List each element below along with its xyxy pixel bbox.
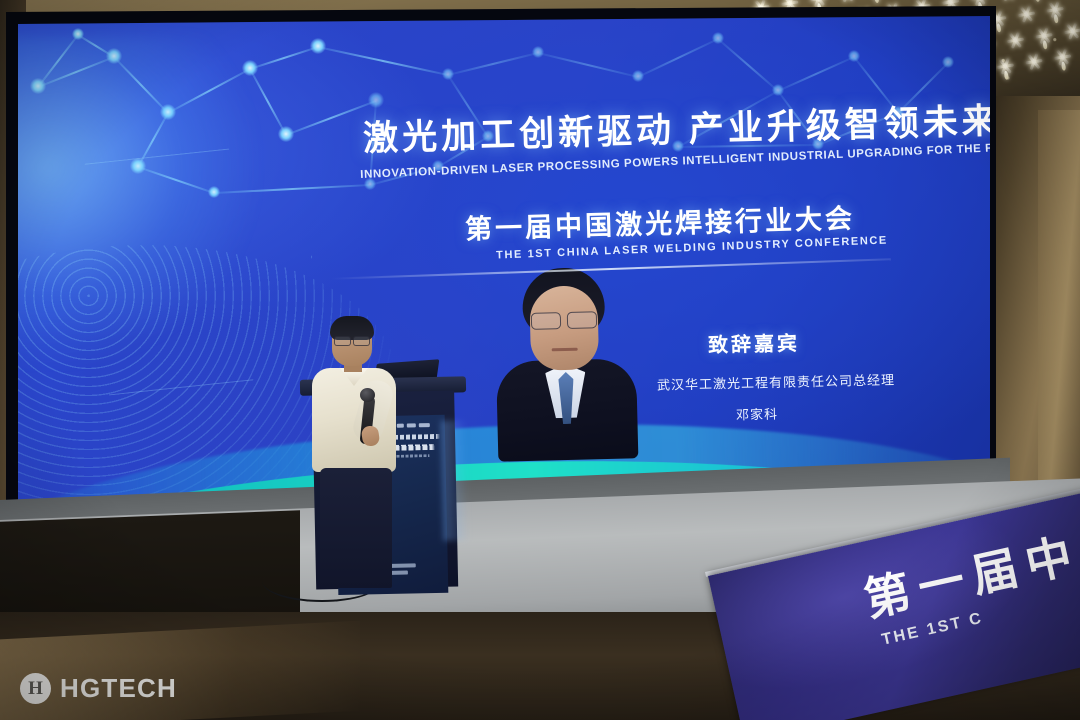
hgtech-watermark: H HGTECH (20, 673, 177, 704)
microphone-head (360, 388, 375, 402)
podium-sponsor-logo (419, 423, 430, 427)
led-screen-frame: 激光加工创新驱动 产业升级智领未来 INNOVATION-DRIVEN LASE… (6, 6, 996, 514)
speaker-glasses (334, 336, 370, 344)
hgtech-brand-text: HGTECH (60, 673, 177, 704)
ceiling-crystal-drop (1035, 0, 1040, 2)
conference-stage-photo: 激光加工创新驱动 产业升级智领未来 INNOVATION-DRIVEN LASE… (0, 0, 1080, 720)
ceiling-crystal-star (1006, 31, 1025, 50)
speaker-person (300, 318, 410, 588)
ceiling-crystal-star (1063, 22, 1080, 41)
ceiling-crystal-star (1017, 5, 1036, 24)
ceiling-crystal-star (1024, 52, 1043, 71)
hgtech-logo-icon: H (20, 673, 51, 704)
speaker-organization: 武汉华工激光工程有限责任公司总经理 (657, 369, 895, 393)
speaker-trousers (320, 468, 392, 588)
speaker-name: 邓家科 (736, 404, 778, 424)
screen-divider-line (331, 258, 891, 279)
podium-edge-glow (441, 420, 470, 541)
speaker-label: 致辞嘉宾 (708, 327, 801, 358)
ceiling-crystal-star (837, 0, 856, 4)
hgtech-logo-letter: H (28, 679, 43, 698)
ceiling-crystal-star (998, 0, 1017, 3)
screen-text-block: 激光加工创新驱动 产业升级智领未来 INNOVATION-DRIVEN LASE… (18, 16, 990, 508)
led-screen: 激光加工创新驱动 产业升级智领未来 INNOVATION-DRIVEN LASE… (18, 16, 990, 508)
ceiling-crystal-drop (874, 0, 879, 3)
